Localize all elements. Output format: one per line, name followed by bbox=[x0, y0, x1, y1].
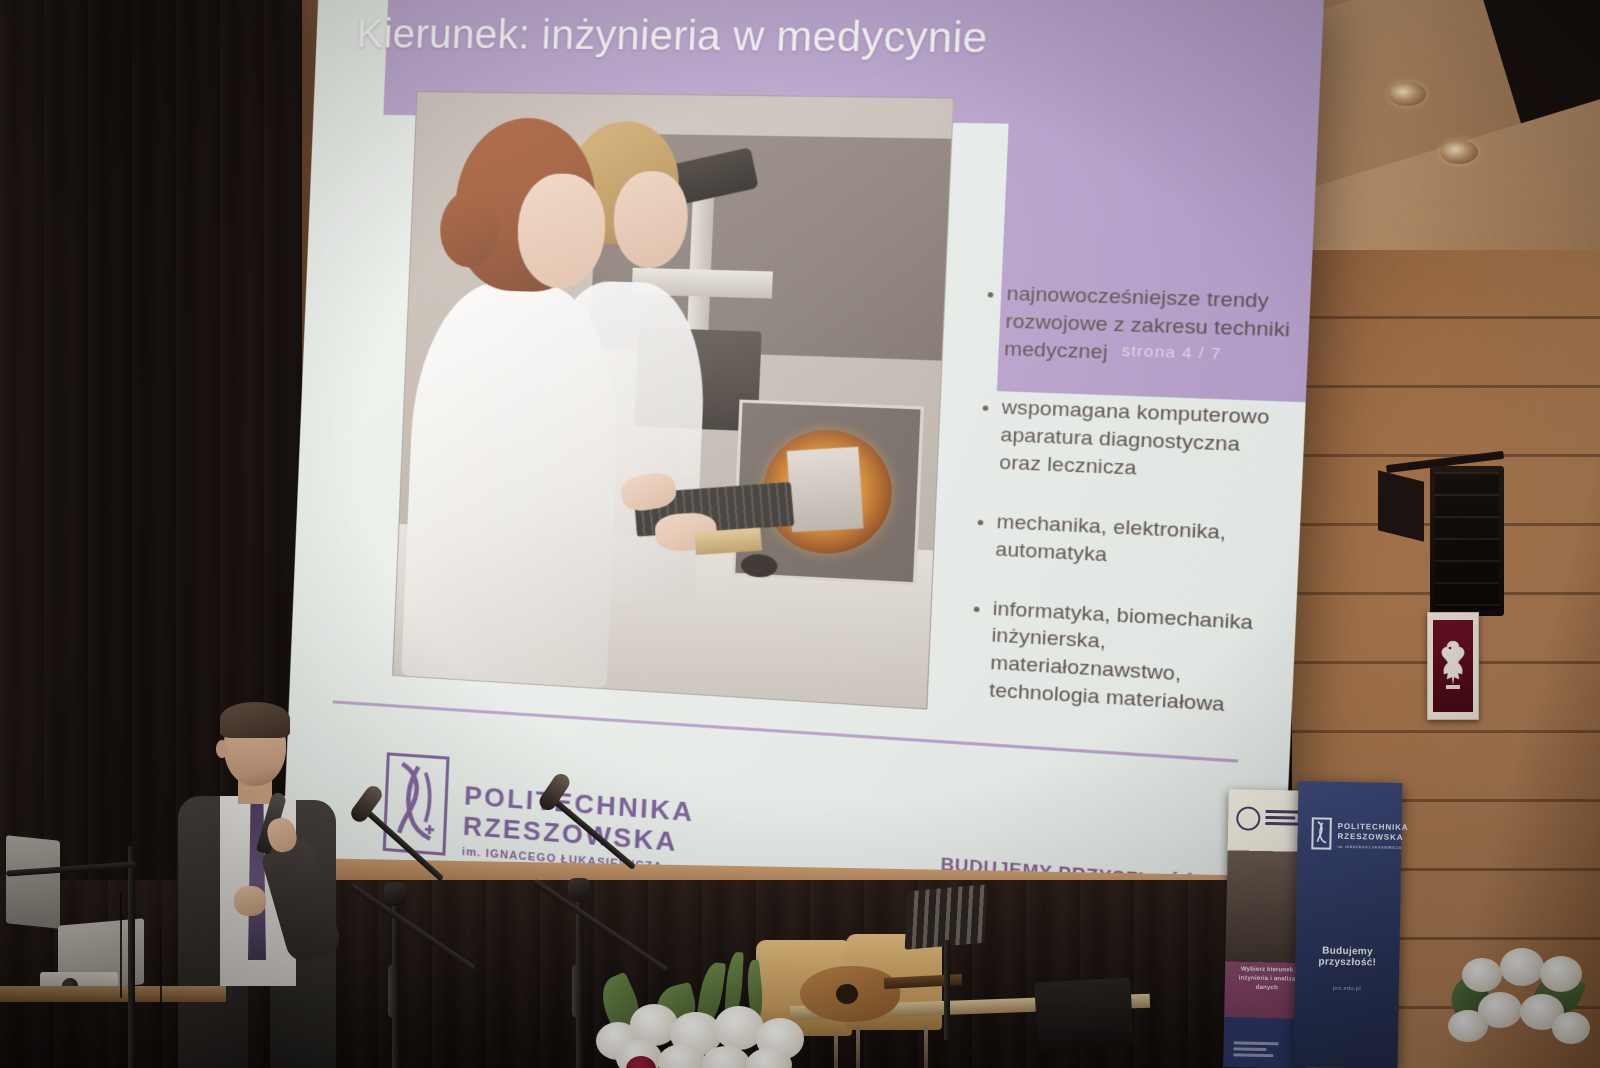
rollup-banner-navy: POLITECHNIKA RZESZOWSKA im. IGNACEGO ŁUK… bbox=[1294, 781, 1403, 1068]
logo-ring-icon bbox=[1236, 806, 1260, 830]
banner-tagline: Budujemy przyszłość! bbox=[1295, 945, 1399, 969]
banner-subtag: prz.edu.pl bbox=[1295, 985, 1399, 993]
bullet-dot-icon bbox=[988, 292, 994, 297]
microphone-stand bbox=[358, 786, 478, 1068]
slide-bullet-item: informatyka, biomechanika inżynierska, m… bbox=[970, 595, 1280, 723]
presentation-photo-scene: Kierunek: inżynieria w medycynie strona … bbox=[0, 0, 1600, 1068]
banner-logo-line-3: im. IGNACEGO ŁUKASIEWICZA bbox=[1337, 845, 1408, 850]
banner-university-logo: POLITECHNIKA RZESZOWSKA im. IGNACEGO ŁUK… bbox=[1311, 817, 1408, 851]
bullet-dot-icon bbox=[974, 606, 980, 612]
pr-monogram-icon bbox=[1311, 817, 1332, 849]
stage-monitor-speaker bbox=[1034, 978, 1133, 1051]
potted-plant bbox=[1444, 948, 1594, 1068]
music-stand bbox=[900, 888, 988, 1038]
banner-logo-line-2: RZESZOWSKA bbox=[1337, 832, 1408, 844]
banner-headline: Wybierz kierunek inżynieria i analiza da… bbox=[1232, 965, 1303, 993]
laptop bbox=[6, 835, 60, 929]
bullet-dot-icon bbox=[983, 406, 989, 412]
banner-footer-marks bbox=[1233, 1041, 1297, 1060]
slide-photo-lab bbox=[392, 91, 954, 710]
pa-speaker-array bbox=[1378, 452, 1518, 632]
flower-bouquet bbox=[596, 960, 896, 1068]
bullet-dot-icon bbox=[978, 520, 984, 526]
slide-bullet-item: wspomagana komputerowo aparatura diagnos… bbox=[980, 394, 1289, 489]
banner-logo bbox=[1236, 799, 1305, 838]
slide-bullet-item: najnowocześniejsze trendy rozwojowe z za… bbox=[985, 280, 1295, 372]
polish-eagle-emblem bbox=[1427, 612, 1479, 720]
downlight-icon bbox=[1388, 82, 1426, 106]
presenter bbox=[176, 700, 346, 1068]
slide-title: Kierunek: inżynieria w medycynie bbox=[356, 12, 989, 63]
slide-bullet-item: mechanika, elektronika, automatyka bbox=[976, 508, 1284, 578]
microphone-stand bbox=[106, 846, 186, 1068]
downlight-icon bbox=[1440, 140, 1478, 164]
slide-bullet-list: najnowocześniejsze trendy rozwojowe z za… bbox=[968, 280, 1294, 755]
